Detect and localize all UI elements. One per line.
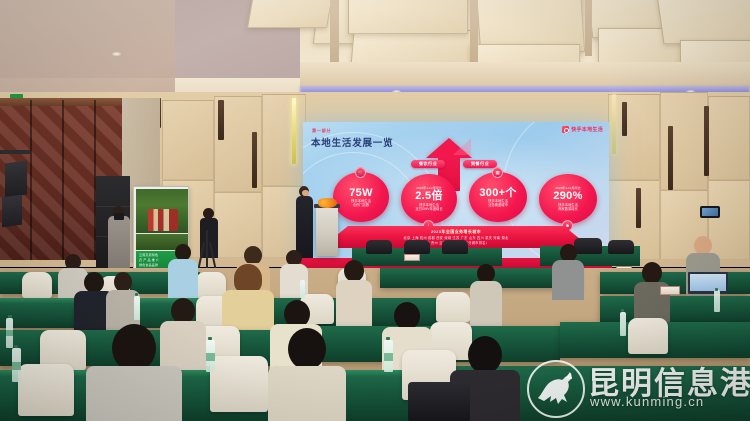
photographer-body (108, 216, 130, 272)
ceiling-panel (656, 0, 750, 44)
wall-led-strip (612, 94, 616, 154)
person-head (114, 272, 132, 292)
metric-bubble-0: 75W 快手本地生活 合作门店数 (333, 172, 389, 222)
slide-eyebrow: 第一部分 (312, 128, 331, 134)
wall-accent-slot (668, 126, 673, 190)
wall-accent-slot (704, 106, 709, 176)
metric-value-3: 290% (553, 190, 582, 202)
slide-pill-1: 到餐行业 (463, 160, 497, 168)
audience-chair (436, 292, 470, 322)
water-bottle (300, 280, 305, 298)
person-body (168, 259, 198, 299)
ceiling-panel (348, 0, 468, 34)
bottle-label (384, 353, 393, 361)
person-body (470, 281, 502, 327)
head-table-chair (404, 240, 430, 254)
head-table-chair (366, 240, 392, 254)
pa-speaker (2, 195, 22, 228)
slide-logo-text: 快手本地生活 (571, 126, 603, 133)
person-head (394, 302, 420, 330)
audience-person (470, 264, 502, 326)
audience-person-foreground (86, 324, 182, 421)
metric-kicker-1: 2023年1-12月同比 (416, 187, 441, 191)
metric-bubble-2: 300+个 快手本地生活 业务覆盖城市 (469, 172, 527, 222)
person-body (86, 366, 182, 421)
person-head (344, 260, 364, 282)
metric-bubble-1: 2023年1-12月同比 2.5倍 快手本地生活 支付GMV年度增长 (401, 174, 457, 224)
metric-bubble-3: 2023年1-12月同比 290% 快手本地生活 商家数量增长 (539, 174, 597, 224)
growth-arrow-shadow (453, 138, 471, 155)
bottle-cap (715, 288, 718, 291)
wall-accent-slot (252, 132, 257, 188)
person-head (642, 262, 662, 284)
pa-speaker (5, 160, 27, 197)
watermark-url: www.kunming.cn (590, 394, 704, 409)
slide-pill-0: 餐饮行业 (411, 160, 445, 168)
slide-brand-logo: 快手本地生活 (562, 126, 603, 133)
lighting-truss (0, 150, 30, 154)
metric-sub-1: 快手本地生活 支付GMV年度增长 (415, 203, 442, 212)
door-header-trim (0, 98, 122, 106)
videographer-body (200, 218, 218, 258)
metric-sub-0: 快手本地生活 合作门店数 (351, 199, 371, 208)
water-bottle (714, 290, 720, 312)
nameplate (660, 286, 680, 295)
metric-sub-3: 快手本地生活 商家数量增长 (558, 203, 578, 212)
ceiling (0, 0, 750, 100)
wall-led-strip (292, 98, 296, 164)
flower-arrangement (318, 198, 337, 208)
audience-phone-screen (702, 208, 718, 216)
ceiling-downlight (112, 52, 121, 56)
person-body (336, 280, 372, 332)
audience-person (336, 260, 372, 330)
head-table-chair (608, 240, 634, 254)
bottle-label (206, 353, 215, 361)
slide-title: 本地生活发展一览 (311, 135, 393, 149)
conference-hall-photo: 第一部分 本地生活发展一览 快手本地生活 餐饮行业 到餐行业 75W 快手本地生… (0, 0, 750, 421)
laptop-screen (690, 274, 726, 291)
watermark: 昆明信息港 www.kunming.cn (520, 352, 750, 421)
audience-chair (210, 356, 268, 412)
ceiling-soffit (470, 0, 478, 64)
head-table-chair (442, 240, 468, 254)
banner-photo-people (148, 209, 178, 231)
banner-photo-top (136, 189, 188, 233)
ceiling-soffit (585, 0, 592, 56)
camera-icon (114, 213, 124, 220)
bottle-cap (208, 337, 212, 340)
kuaishou-logo-icon (562, 126, 569, 133)
wall-panel (262, 94, 306, 186)
wood-wall-seam (62, 100, 64, 260)
person-body (268, 366, 346, 421)
metric-value-2: 300+个 (479, 187, 516, 199)
person-head (468, 336, 502, 374)
speaker-body (296, 196, 313, 258)
bottle-cap (621, 309, 624, 312)
bottle-cap (14, 345, 18, 348)
water-bottle (134, 296, 140, 320)
wall-panel (708, 96, 750, 180)
handbag (408, 382, 470, 421)
grid-icon: ▦ (492, 167, 503, 178)
person-head (84, 272, 104, 293)
audience-person-foreground (268, 328, 346, 421)
wood-wall-seam (30, 100, 32, 260)
bottle-label (12, 362, 21, 370)
wall-accent-slot (636, 188, 641, 228)
metric-value-1: 2.5倍 (415, 190, 443, 202)
water-bottle (620, 312, 626, 336)
nameplate (404, 254, 420, 261)
person-head (112, 324, 156, 372)
bottle-label (6, 330, 13, 336)
bottle-cap (135, 293, 138, 296)
audience-person (552, 244, 584, 300)
ceiling-soffit (300, 62, 750, 88)
running-horse-logo-icon (534, 368, 578, 408)
podium (316, 206, 338, 256)
wall-accent-slot (218, 100, 224, 140)
metric-value-0: 75W (349, 187, 373, 199)
audience-chair (18, 364, 74, 416)
metric-sub-2: 快手本地生活 业务覆盖城市 (488, 199, 508, 208)
ceiling-left-bulkhead (0, 0, 175, 100)
audience-chair (628, 318, 668, 354)
wall-accent-slot (622, 102, 627, 136)
wall-panel (162, 100, 214, 180)
camera-tripod (206, 230, 208, 270)
person-body (552, 260, 584, 300)
audience-chair (22, 272, 52, 298)
videographer (200, 208, 218, 270)
metric-kicker-3: 2023年1-12月同比 (555, 187, 580, 191)
cart-icon: 🛒 (355, 167, 366, 178)
bottle-cap (8, 315, 12, 318)
ceiling-soffit (330, 0, 339, 70)
person-head (288, 328, 326, 370)
ceiling-panel (247, 0, 333, 28)
audience-person (168, 244, 198, 298)
speaker-at-podium (296, 186, 313, 258)
bottle-cap (386, 337, 390, 340)
photographer (108, 206, 130, 272)
